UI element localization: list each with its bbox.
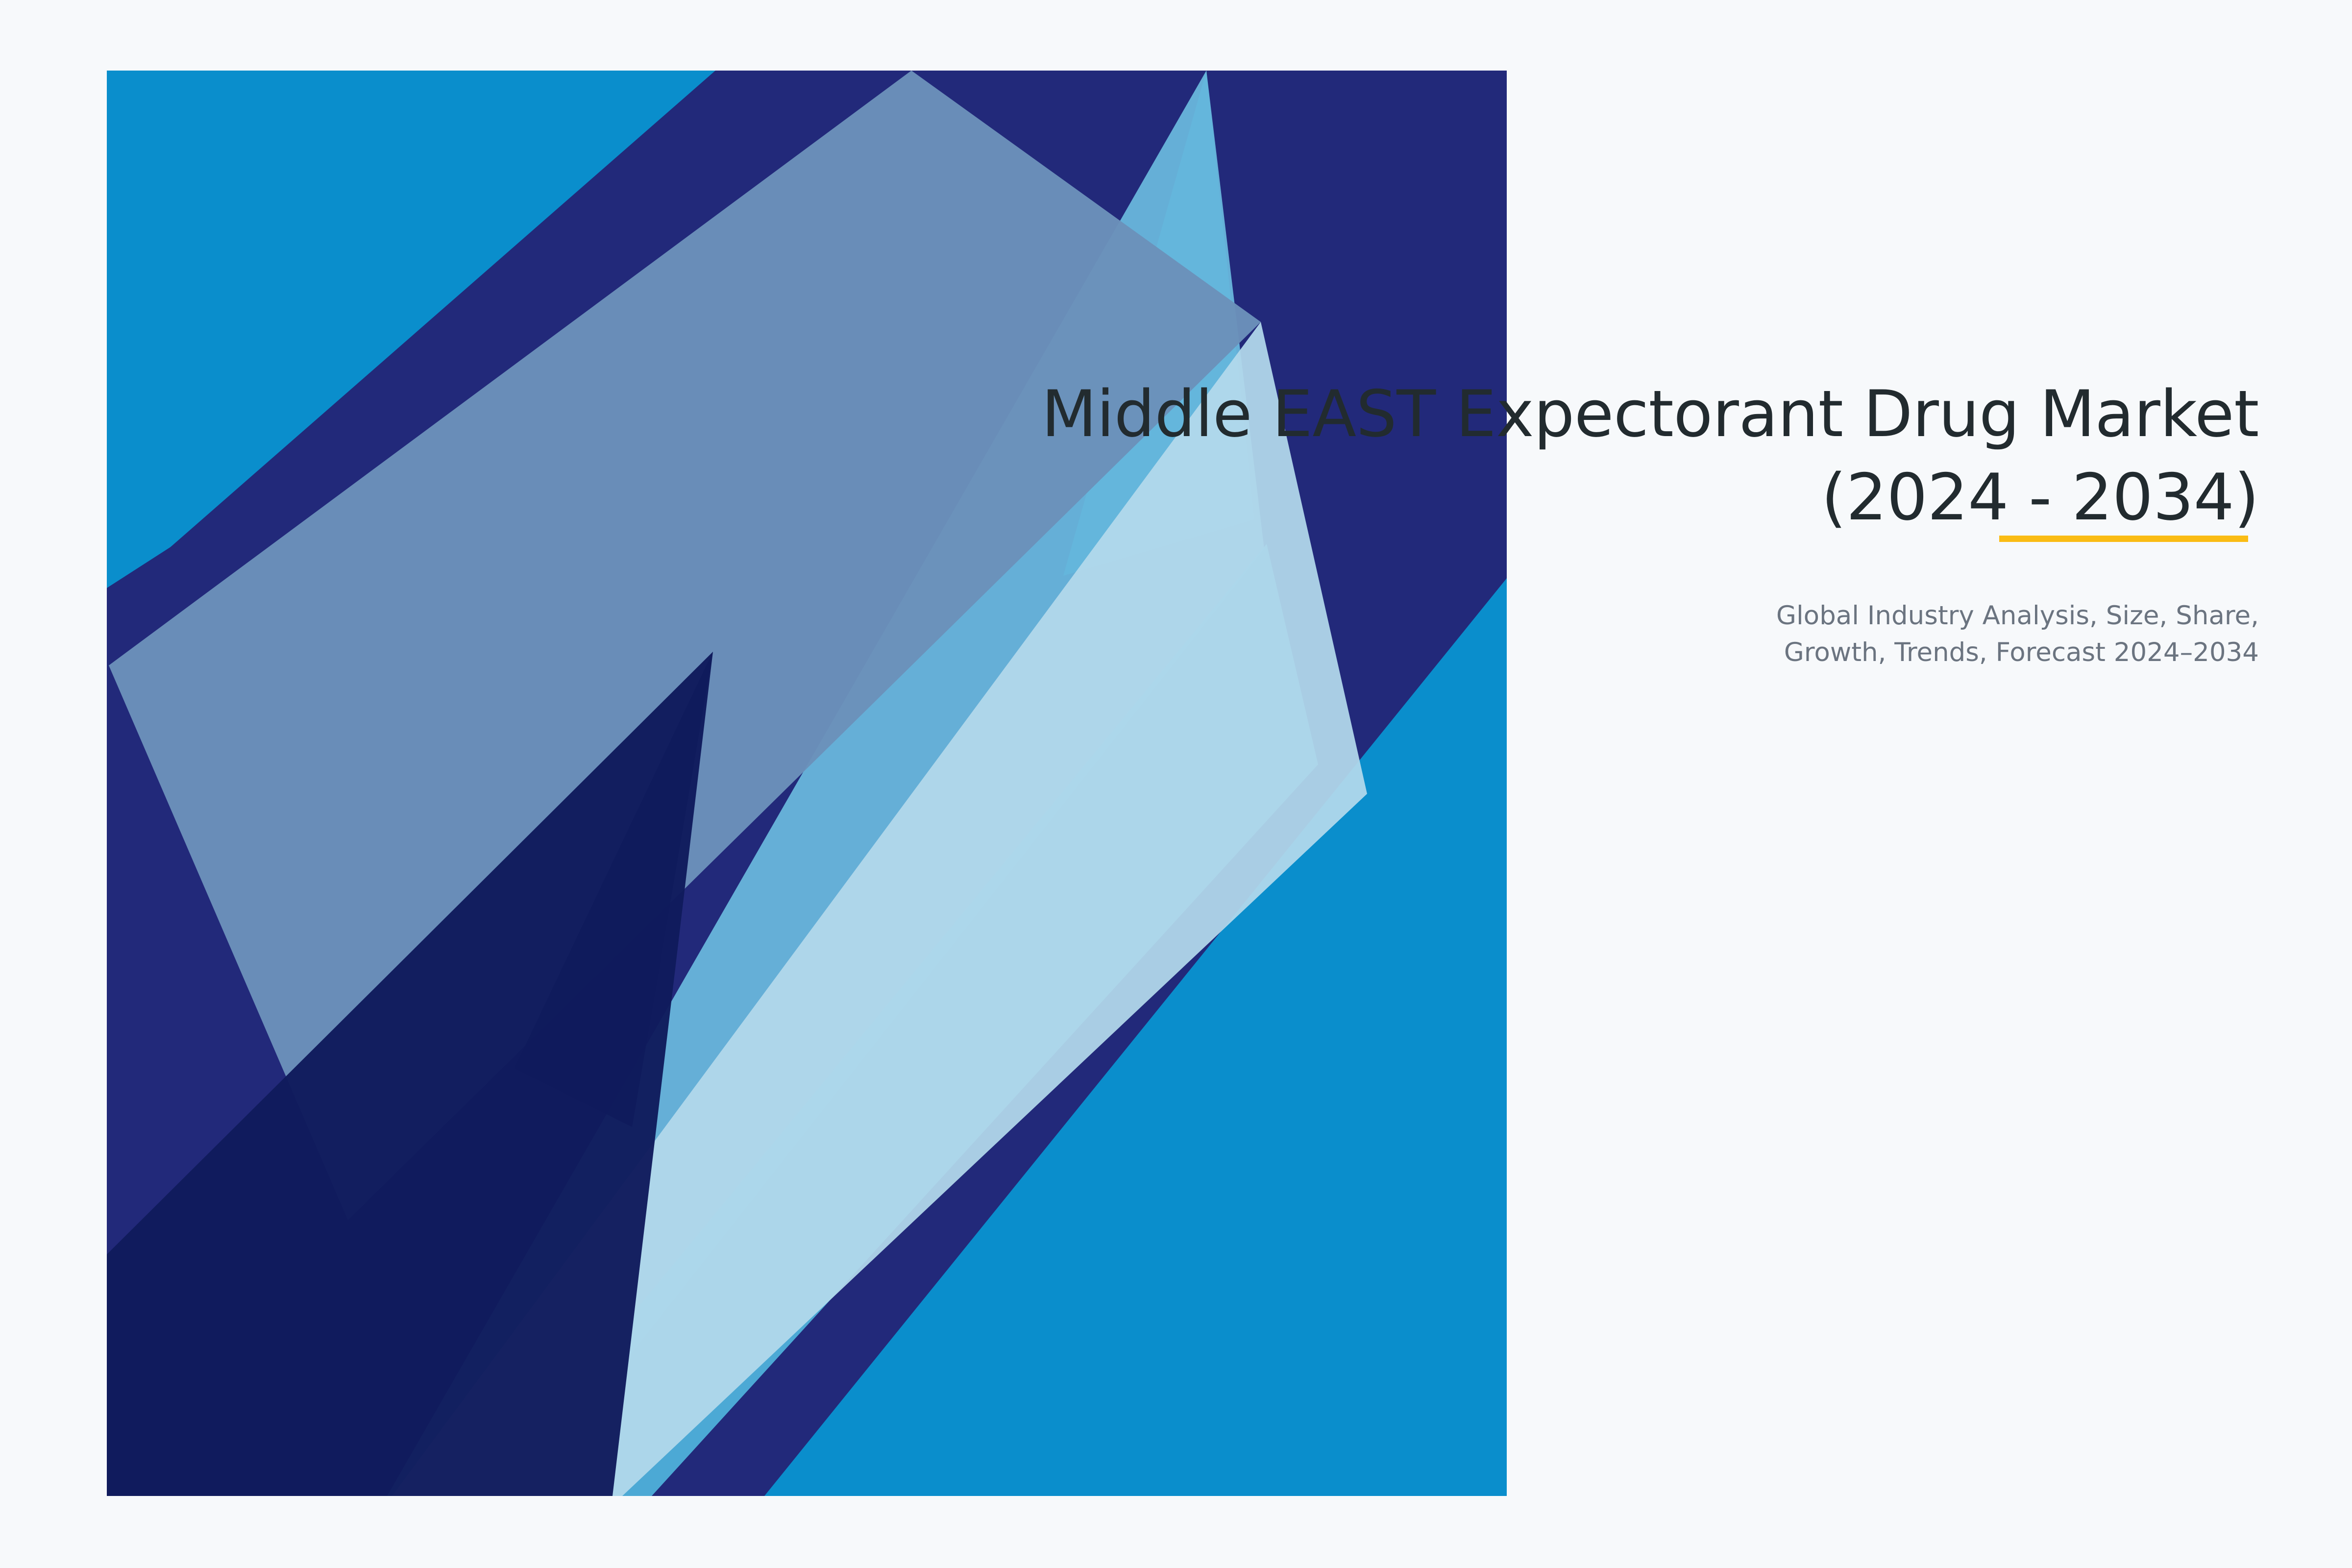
title-line-2: (2024 - 2034) <box>735 456 2259 539</box>
title-line-1: Middle EAST Expectorant Drug Market <box>735 372 2259 456</box>
abstract-geometric-banner <box>0 0 2352 1568</box>
page-title: Middle EAST Expectorant Drug Market (202… <box>735 372 2259 539</box>
page-subtitle: Global Industry Analysis, Size, Share, G… <box>735 597 2259 671</box>
cover-text-block: Middle EAST Expectorant Drug Market (202… <box>735 372 2259 671</box>
cover-page: Middle EAST Expectorant Drug Market (202… <box>0 0 2352 1568</box>
